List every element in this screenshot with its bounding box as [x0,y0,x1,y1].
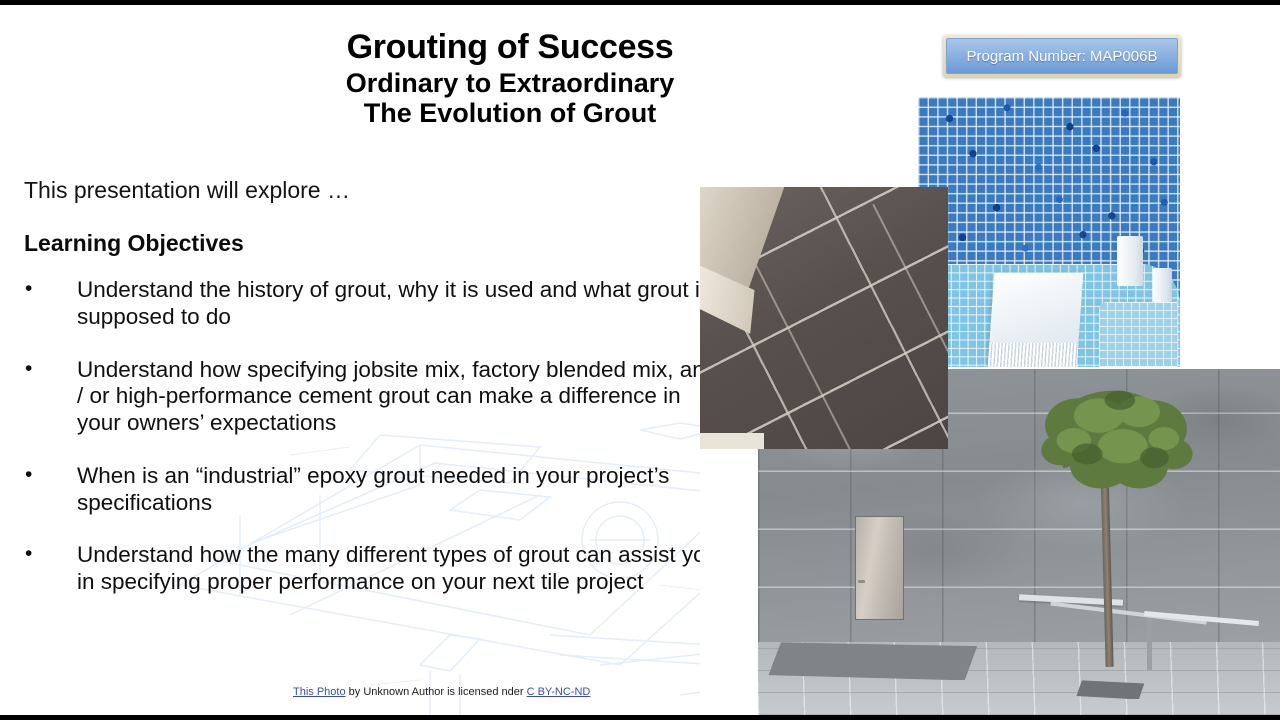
towel-fringe [988,342,1079,367]
title-block: Grouting of Success Ordinary to Extraord… [180,29,840,128]
photo-attribution: This Photo by Unknown Author is licensed… [293,686,590,698]
entry-mat [768,642,977,680]
attribution-middle-text: by Unknown Author is licensed nder [346,686,527,698]
list-item: • Understand the history of grout, why i… [22,277,722,331]
slide-canvas: Grouting of Success Ordinary to Extraord… [0,5,1280,715]
list-item-text: Understand how the many different types … [77,542,718,594]
bullet-marker-icon: • [25,462,32,488]
this-photo-link[interactable]: This Photo [293,686,346,698]
tree-canopy-icon [1027,383,1199,508]
dark-tile-floor-photo [700,187,948,449]
learning-objectives-heading: Learning Objectives [24,230,244,257]
bullet-marker-icon: • [25,541,32,567]
list-item: • When is an “industrial” epoxy grout ne… [22,463,722,517]
list-item-text: Understand the history of grout, why it … [77,277,711,329]
metal-door [855,516,905,620]
page-subtitle-1: Ordinary to Extraordinary [180,68,840,98]
learning-objectives-list: • Understand the history of grout, why i… [22,277,722,622]
white-towel [988,273,1084,368]
door-handle [858,580,865,583]
program-number-badge: Program Number: MAP006B [943,35,1181,77]
list-item: • Understand how specifying jobsite mix,… [22,357,722,437]
handrail-post [1147,618,1152,670]
blue-mosaic-tile-spa-photo [918,97,1180,367]
list-item: • Understand how the many different type… [22,542,722,596]
photo-seam-mask [700,449,758,715]
mosaic-pedestal [1099,302,1178,367]
license-link[interactable]: C BY-NC-ND [527,686,591,698]
list-item-text: When is an “industrial” epoxy grout need… [77,463,669,515]
floor-bottom-strip [700,433,764,449]
bullet-marker-icon: • [25,356,32,382]
bullet-marker-icon: • [25,276,32,302]
program-number-label: Program Number: MAP006B [967,48,1158,65]
page-title: Grouting of Success [180,29,840,66]
program-number-badge-inner: Program Number: MAP006B [946,38,1178,74]
candle-large [1117,236,1143,286]
candle-small [1153,268,1172,302]
intro-text: This presentation will explore … [24,177,350,204]
page-subtitle-2: The Evolution of Grout [180,98,840,128]
list-item-text: Understand how specifying jobsite mix, f… [77,357,717,436]
